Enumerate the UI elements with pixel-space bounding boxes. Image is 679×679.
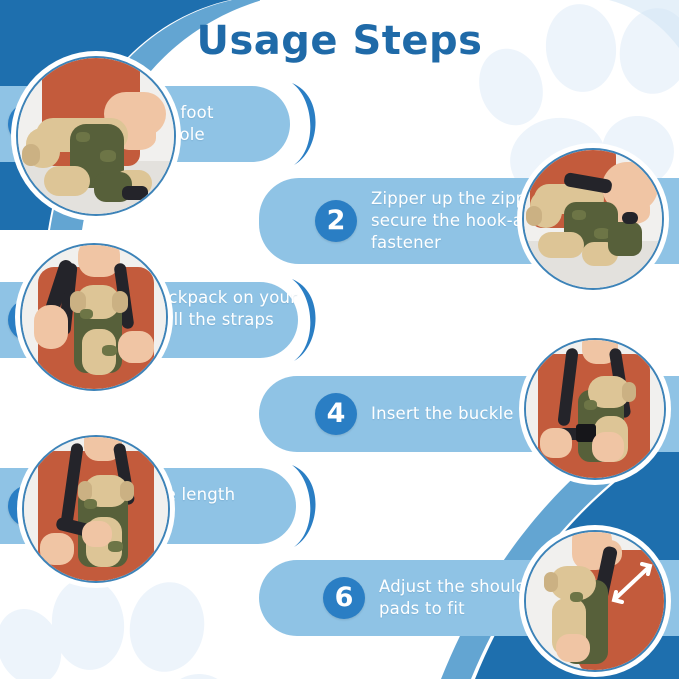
step-6-photo	[524, 530, 666, 672]
infographic-canvas: Usage Steps 1 Put the dog's foot through…	[0, 0, 679, 679]
step-1-photo	[16, 56, 176, 216]
step-5-photo	[22, 435, 170, 583]
step-badge-2: 2	[315, 200, 357, 242]
step-text-6: Adjust the shoulder pads to fit	[379, 576, 544, 620]
step-3-photo	[20, 243, 168, 391]
step-badge-6: 6	[323, 577, 365, 619]
step-tail-1	[288, 81, 322, 167]
step-4-photo	[524, 338, 666, 480]
step-2-photo	[522, 148, 664, 290]
step-text-4: Insert the buckle	[371, 403, 514, 425]
step-badge-4: 4	[315, 393, 357, 435]
double-arrow-annotation	[602, 554, 662, 614]
